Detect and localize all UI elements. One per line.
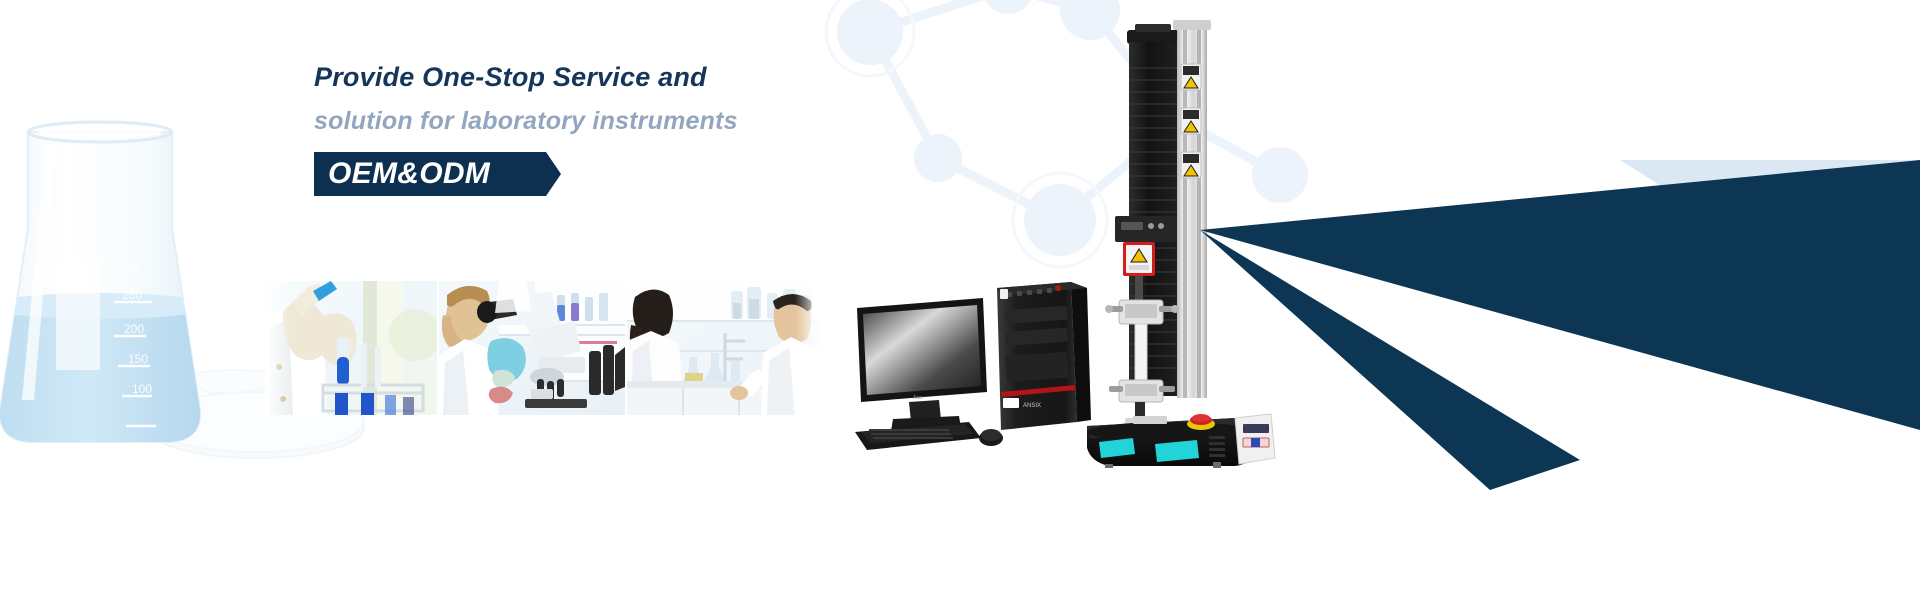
list-item [627,281,821,415]
crosshead [1115,216,1177,242]
machine-base [1087,414,1275,468]
photo-pipetting [265,281,437,415]
oem-odm-badge: OEM&ODM [314,152,490,196]
headline-block: Provide One-Stop Service and solution fo… [314,55,934,196]
flask-graduation-300: 300 [120,260,140,274]
flask-unit-label: ml [76,270,90,285]
headline-primary: Provide One-Stop Service and [314,55,934,99]
load-cell [1123,242,1155,276]
photo-microscope [439,281,625,415]
list-item [265,281,437,415]
monitor: Acer [857,298,987,431]
pc-tower: ANSIX [997,282,1091,430]
list-item [439,281,625,415]
triangle-dark-tail [1200,230,1580,490]
lower-grip [1109,380,1175,402]
flask-graduation-150: 150 [128,352,148,366]
promo-banner: 300 250 200 150 100 ml Provide One-Stop … [0,0,1920,597]
keyboard [855,422,981,450]
photo-lab-bench [627,281,821,415]
svg-text:Acer: Acer [913,395,924,401]
flask-graduation-200: 200 [124,322,144,336]
flask-graduation-250: 250 [122,288,142,302]
photo-strip [265,281,821,415]
warning-label-group [1181,64,1201,178]
desktop-computer-set: Acer [855,280,1105,450]
flask-graduation-100: 100 [132,382,152,396]
triangle-light-shape [1620,160,1920,350]
triangle-dark-shape [1200,160,1920,430]
decor-triangles [1200,130,1920,490]
headline-secondary: solution for laboratory instruments [314,99,934,143]
mouse [979,429,1003,446]
upper-grip [1105,300,1179,324]
oem-odm-badge-label: OEM&ODM [314,152,490,196]
universal-testing-machine [1085,8,1315,468]
svg-text:ANSIX: ANSIX [1023,403,1041,409]
